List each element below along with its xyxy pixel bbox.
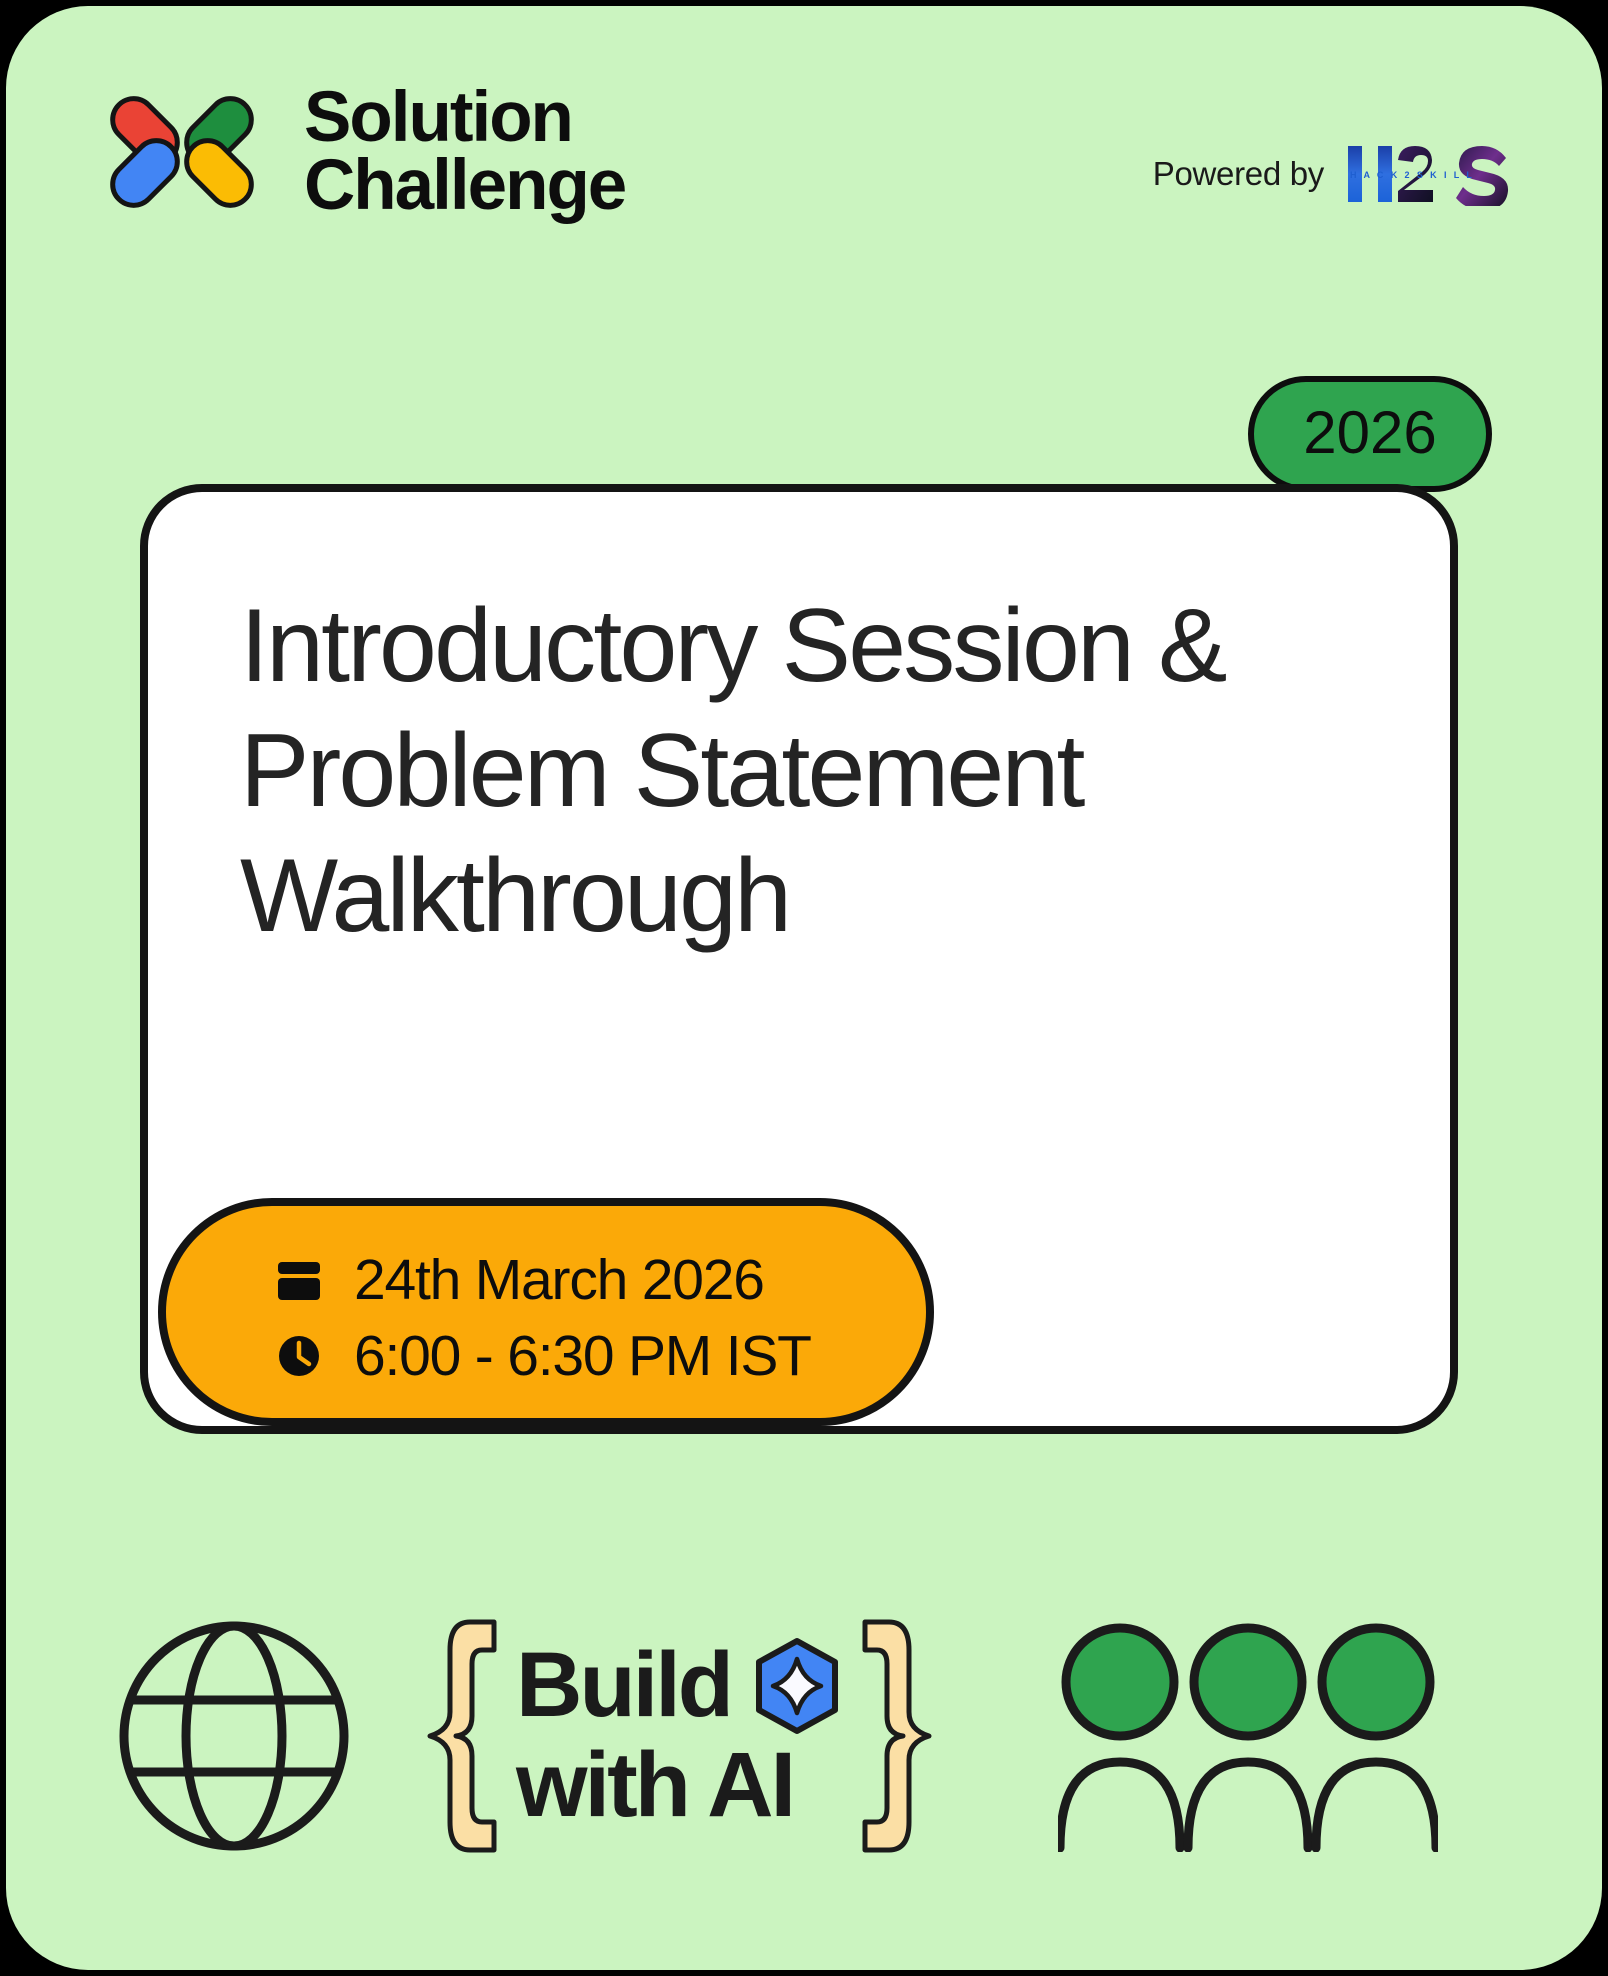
- build-with-ai-line-2: with AI: [516, 1737, 843, 1835]
- build-with-ai-lockup: Build with AI: [424, 1616, 935, 1856]
- h2s-logo-icon: H A C K 2 S K I L L: [1346, 142, 1510, 206]
- calendar-icon: [276, 1257, 322, 1303]
- schedule-time-row: 6:00 - 6:30 PM IST: [276, 1318, 926, 1394]
- year-badge: 2026: [1248, 376, 1492, 492]
- poster-canvas: Solution Challenge Powered by: [6, 6, 1602, 1970]
- three-people-icon: [1058, 1620, 1438, 1852]
- powered-by-label: Powered by: [1153, 155, 1324, 193]
- page-title: Introductory Session & Problem Statement…: [240, 584, 1380, 958]
- footer: Build with AI: [6, 1606, 1602, 1886]
- build-label: Build: [516, 1637, 731, 1735]
- poster-frame: Solution Challenge Powered by: [0, 0, 1608, 1976]
- build-with-ai-line-1: Build: [516, 1637, 843, 1735]
- schedule-time-text: 6:00 - 6:30 PM IST: [354, 1323, 811, 1389]
- gdg-chevrons-icon: [94, 96, 270, 208]
- svg-text:H A C K 2 S K I L L: H A C K 2 S K I L L: [1350, 170, 1474, 180]
- clock-icon: [276, 1333, 322, 1379]
- gemini-sparkle-hexagon-icon: [751, 1637, 843, 1735]
- schedule-badge: 24th March 2026 6:00 - 6:30 PM IST: [158, 1198, 934, 1426]
- powered-by-lockup: Powered by: [1153, 142, 1510, 206]
- build-with-ai-text: Build with AI: [510, 1637, 849, 1835]
- schedule-date-text: 24th March 2026: [354, 1247, 764, 1313]
- right-curly-brace-icon: [857, 1616, 935, 1856]
- brand-lockup: Solution Challenge: [94, 84, 625, 220]
- left-curly-brace-icon: [424, 1616, 502, 1856]
- with-ai-label: with AI: [516, 1737, 793, 1835]
- schedule-date-row: 24th March 2026: [276, 1242, 926, 1318]
- header: Solution Challenge Powered by: [6, 6, 1602, 306]
- brand-title: Solution Challenge: [304, 84, 625, 220]
- globe-icon: [118, 1620, 350, 1852]
- year-badge-label: 2026: [1303, 398, 1436, 471]
